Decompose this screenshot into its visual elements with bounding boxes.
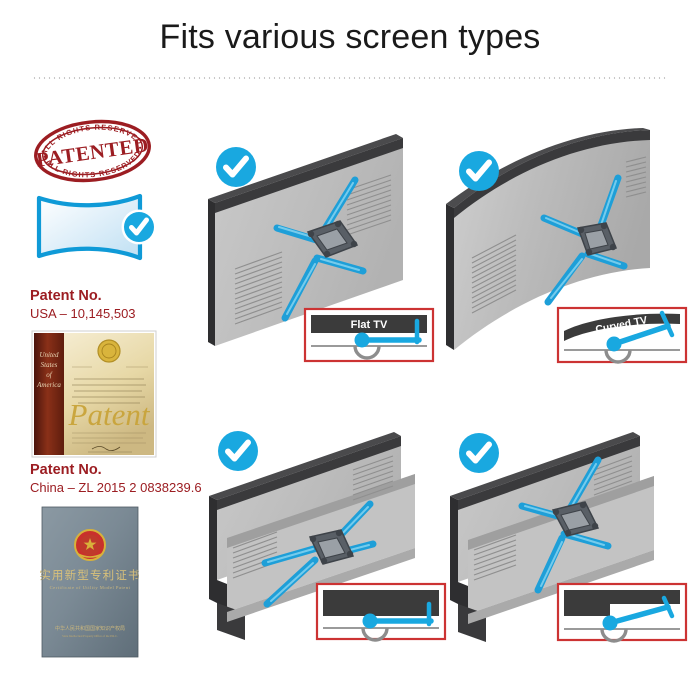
panel-recessed-back-tv bbox=[440, 408, 690, 658]
inset-thick-back bbox=[317, 584, 445, 640]
patent-sidebar: • ALL RIGHTS RESERVED • • ALL RIGHTS RES… bbox=[22, 110, 197, 670]
china-patent-certificate: 实用新型专利证书 Certificate of Utility Model Pa… bbox=[30, 503, 200, 661]
check-badge-icon bbox=[122, 210, 157, 245]
svg-text:实用新型专利证书: 实用新型专利证书 bbox=[39, 568, 141, 582]
panel-curved-tv: Curved TV bbox=[440, 128, 690, 373]
inset-flat-tv: Flat TV bbox=[305, 309, 433, 361]
svg-text:Flat TV: Flat TV bbox=[351, 319, 388, 331]
patent-number-usa: USA – 10,145,503 bbox=[30, 306, 200, 323]
svg-text:Patent: Patent bbox=[68, 397, 151, 432]
panel-flat-tv: Flat TV bbox=[205, 128, 450, 373]
svg-text:中华人民共和国国家知识产权局: 中华人民共和国国家知识产权局 bbox=[55, 625, 125, 632]
svg-text:United: United bbox=[39, 351, 59, 359]
patent-block-usa: Patent No. USA – 10,145,503 bbox=[30, 288, 200, 459]
svg-text:State Intellectual Property Of: State Intellectual Property Office of th… bbox=[62, 634, 118, 638]
header-divider bbox=[32, 77, 668, 79]
page-title: Fits various screen types bbox=[0, 18, 700, 57]
svg-text:States: States bbox=[41, 361, 58, 369]
svg-text:America: America bbox=[36, 381, 61, 389]
patent-label-china: Patent No. bbox=[30, 462, 200, 479]
us-patent-certificate: United States of America bbox=[30, 329, 200, 459]
inset-recessed-back bbox=[558, 584, 686, 641]
check-badge-thick-back bbox=[217, 430, 259, 472]
patented-stamp: • ALL RIGHTS RESERVED • • ALL RIGHTS RES… bbox=[27, 112, 158, 191]
patent-number-china: China – ZL 2015 2 0838239.6 bbox=[30, 480, 200, 497]
curved-screen-icon bbox=[34, 190, 169, 268]
check-badge-recessed-back bbox=[458, 432, 500, 474]
patent-block-china: Patent No. China – ZL 2015 2 0838239.6 bbox=[30, 462, 200, 661]
inset-curved-tv: Curved TV bbox=[558, 308, 686, 362]
svg-text:Certificate of Utility Model P: Certificate of Utility Model Patent bbox=[50, 585, 131, 590]
check-badge-flat-tv bbox=[215, 146, 257, 188]
infographic-page: Fits various screen types • ALL RIGHTS R… bbox=[0, 0, 700, 700]
panel-thick-back-tv bbox=[205, 408, 450, 658]
check-badge-curved-tv bbox=[458, 150, 500, 192]
patent-label-usa: Patent No. bbox=[30, 288, 200, 305]
